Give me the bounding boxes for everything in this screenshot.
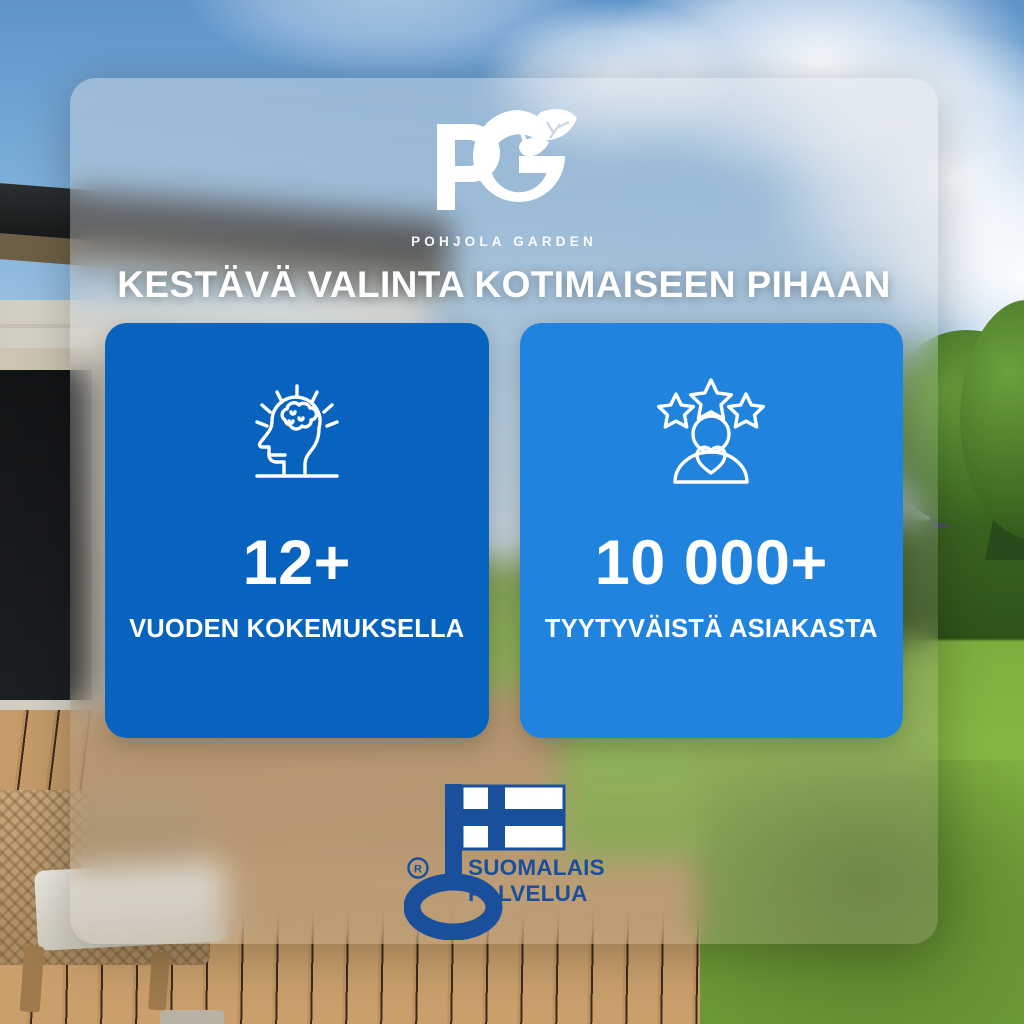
brand-logo[interactable]: POHJOLA GARDEN: [70, 108, 938, 249]
person-heart-three-stars-icon: [652, 369, 770, 494]
stat-number: 10 000+: [595, 532, 828, 595]
headline: KESTÄVÄ VALINTA KOTIMAISEEN PIHAAN: [70, 264, 938, 306]
plant-pot: [160, 1010, 224, 1024]
overlay-content: POHJOLA GARDEN KESTÄVÄ VALINTA KOTIMAISE…: [70, 78, 938, 944]
stat-card-experience[interactable]: 12+ VUODEN KOKEMUKSELLA: [105, 323, 489, 738]
stat-label: TYYTYVÄISTÄ ASIAKASTA: [545, 615, 878, 643]
avainlippu-line2: PALVELUA: [468, 881, 588, 906]
brand-wordmark: POHJOLA GARDEN: [70, 234, 938, 249]
avainlippu-key-flag-icon: R SUOMALAISTA PALVELUA: [404, 770, 604, 940]
svg-text:R: R: [414, 864, 422, 876]
avainlippu-certification[interactable]: R SUOMALAISTA PALVELUA: [70, 770, 938, 940]
stat-card-customers[interactable]: 10 000+ TYYTYVÄISTÄ ASIAKASTA: [520, 323, 904, 738]
stat-label: VUODEN KOKEMUKSELLA: [129, 615, 464, 643]
stat-number: 12+: [243, 532, 351, 595]
pg-leaf-logo-icon: [429, 108, 579, 226]
head-brain-idea-icon: [241, 369, 353, 494]
stats-cards: 12+ VUODEN KOKEMUKSELLA 10 000: [105, 323, 903, 738]
avainlippu-line1: SUOMALAISTA: [468, 855, 604, 880]
